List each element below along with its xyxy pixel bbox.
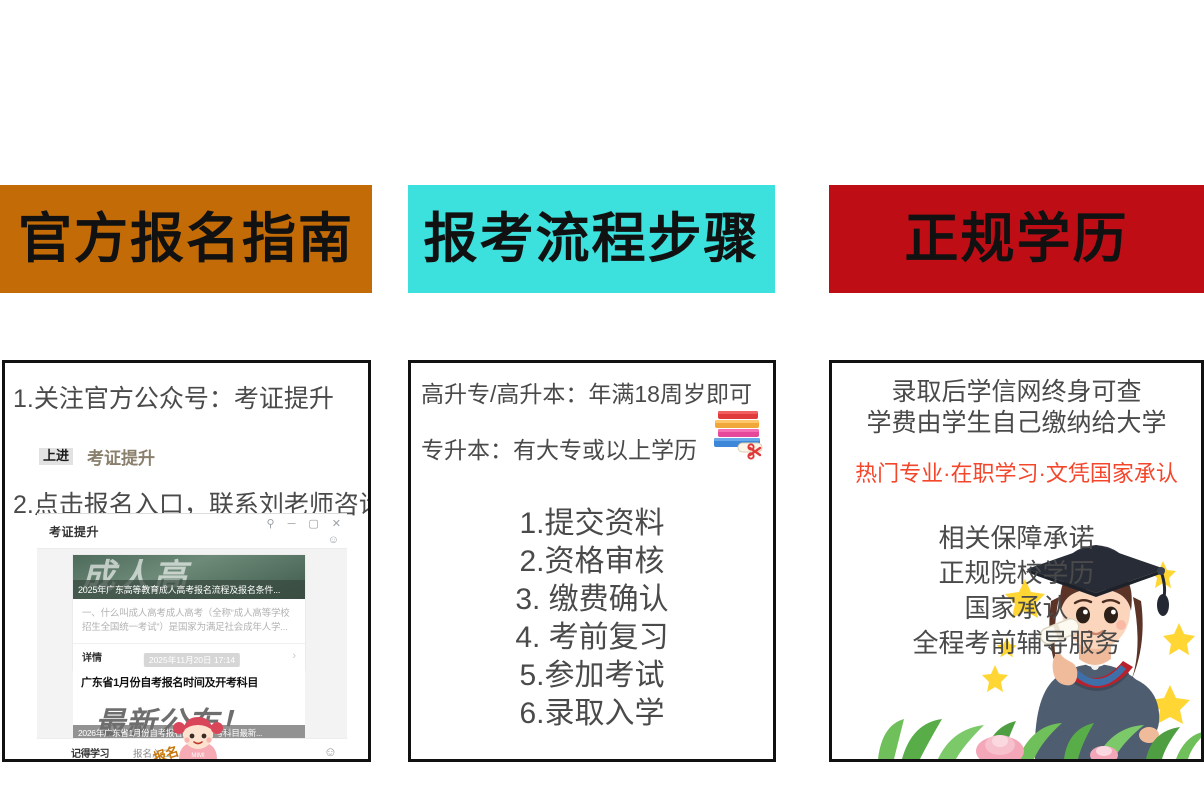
poster-canvas: 官方报名指南 报考流程步骤 正规学历 1.关注官方公众号：考证提升 上进 考证提… [0, 0, 1204, 801]
close-icon[interactable]: ✕ [332, 519, 341, 530]
process-step: 1.提交资料 [519, 505, 664, 543]
panel-official-guide: 1.关注官方公众号：考证提升 上进 考证提升 2.点击报名入口，联系刘老师咨询 … [2, 360, 371, 762]
degree-note-2: 学费由学生自己缴纳给大学 [832, 408, 1201, 439]
pin-icon[interactable]: ⚲ [267, 519, 275, 530]
process-step: 5.参加考试 [519, 657, 664, 695]
emoji-icon[interactable]: ☺ [324, 744, 337, 759]
guide-step-1: 1.关注官方公众号：考证提升 [13, 379, 334, 415]
promise-item: 国家承认 [832, 591, 1201, 626]
process-step: 3. 缴费确认 [515, 581, 668, 619]
column-header-title: 正规学历 [905, 212, 1129, 266]
promise-item: 相关保障承诺 [832, 521, 1201, 556]
process-step: 2.资格审核 [519, 543, 664, 581]
person-icon[interactable]: ☺ [328, 535, 339, 546]
condition-zhuansheng: 专升本：有大专或以上学历 [421, 439, 697, 462]
article-hero-image: 成人高 2025年广东高等教育成人高考报名流程及报名条件... [73, 555, 305, 599]
account-name: 考证提升 [87, 444, 155, 469]
article-more-label: 详情 [82, 649, 102, 664]
article-caption: 2025年广东高等教育成人高考报名流程及报名条件... [73, 580, 305, 599]
promise-item: 全程考前辅导服务 [832, 626, 1201, 661]
column-header-official-guide: 官方报名指南 [0, 185, 372, 293]
wechat-window-controls: ⚲ ─ ▢ ✕ [267, 519, 341, 530]
chevron-right-icon: › [292, 650, 296, 662]
degree-notes: 录取后学信网终身可查 学费由学生自己缴纳给大学 热门专业·在职学习·文凭国家承认 [832, 377, 1201, 489]
message-timestamp: 2025年11月20日 17:14 [144, 653, 240, 667]
panel-process-steps: 高升专/高升本：年满18周岁即可 专升本：有大专或以上学历 1.提交资料 2.资… [408, 360, 776, 762]
wechat-message-list: 成人高 2025年广东高等教育成人高考报名流程及报名条件... 一、什么叫成人高… [37, 549, 347, 762]
minimize-icon[interactable]: ─ [288, 519, 296, 530]
process-step: 6.录取入学 [519, 695, 664, 733]
degree-highlight: 热门专业·在职学习·文凭国家承认 [832, 459, 1201, 489]
column-header-title: 官方报名指南 [18, 212, 354, 266]
column-header-process-steps: 报考流程步骤 [408, 185, 775, 293]
leaves-decoration [868, 695, 1204, 759]
wechat-titlebar: 考证提升 ⚲ ─ ▢ ✕ ☺ [37, 514, 347, 549]
maximize-icon[interactable]: ▢ [308, 519, 318, 530]
svg-text:MIMI: MIMI [191, 753, 205, 759]
official-account-row: 上进 考证提升 [39, 444, 155, 469]
article2-title: 广东省1月份自考报名时间及开考科目 [73, 667, 305, 690]
books-stack-icon [706, 403, 772, 461]
degree-promise-list: 相关保障承诺 正规院校学历 国家承认 全程考前辅导服务 [832, 521, 1201, 661]
panel-formal-degree: 录取后学信网终身可查 学费由学生自己缴纳给大学 热门专业·在职学习·文凭国家承认 [829, 360, 1204, 762]
promise-item: 正规院校学历 [832, 556, 1201, 591]
footer-menu-study[interactable]: 记得学习 [71, 745, 109, 760]
article-summary: 一、什么叫成人高考成人高考（全称“成人高等学校招生全国统一考试”）是国家为满足社… [73, 599, 305, 644]
degree-note-1: 录取后学信网终身可查 [832, 377, 1201, 408]
process-step-list: 1.提交资料 2.资格审核 3. 缴费确认 4. 考前复习 5.参加考试 6.录… [411, 505, 773, 733]
wechat-window-title: 考证提升 [49, 523, 99, 540]
condition-gaosheng: 高升专/高升本：年满18周岁即可 [421, 383, 752, 406]
column-header-title: 报考流程步骤 [424, 212, 760, 266]
wechat-window-screenshot: 考证提升 ⚲ ─ ▢ ✕ ☺ 成人高 2025年广东高等教育成人高考报名流程及报… [37, 513, 347, 762]
account-badge: 上进 [39, 448, 73, 465]
process-step: 4. 考前复习 [515, 619, 668, 657]
column-header-formal-degree: 正规学历 [829, 185, 1204, 293]
